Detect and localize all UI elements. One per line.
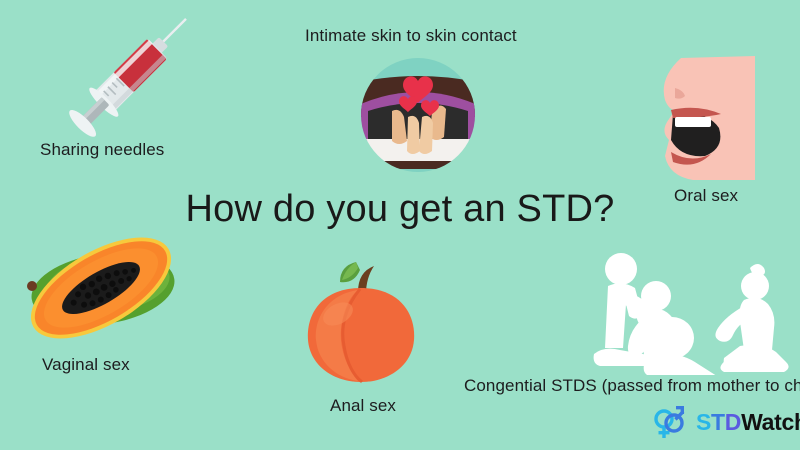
peach-icon <box>296 248 426 388</box>
logo-letter-t: T <box>711 409 725 435</box>
infographic-canvas: Sharing needles Intimate skin to skin co… <box>0 0 800 450</box>
open-mouth-icon <box>645 52 760 182</box>
stdwatch-logo[interactable]: STDWatch <box>650 404 800 440</box>
caption-anal-sex: Anal sex <box>330 396 396 416</box>
couple-in-bed-icon <box>348 55 488 175</box>
papaya-icon <box>8 232 198 342</box>
logo-letter-s: S <box>696 409 711 435</box>
caption-vaginal-sex: Vaginal sex <box>42 355 130 375</box>
logo-word-watch: Watch <box>741 409 800 435</box>
pregnant-family-icon <box>578 250 793 375</box>
syringe-icon <box>55 0 205 156</box>
logo-wordmark: STDWatch <box>696 411 800 434</box>
logo-letter-d: D <box>725 409 741 435</box>
interlocked-gender-symbols-icon <box>650 404 692 440</box>
caption-intimate-skin-contact: Intimate skin to skin contact <box>305 26 517 46</box>
caption-congenital-stds: Congential STDS (passed from mother to c… <box>464 376 800 396</box>
page-title: How do you get an STD? <box>0 188 800 231</box>
caption-sharing-needles: Sharing needles <box>40 140 164 160</box>
